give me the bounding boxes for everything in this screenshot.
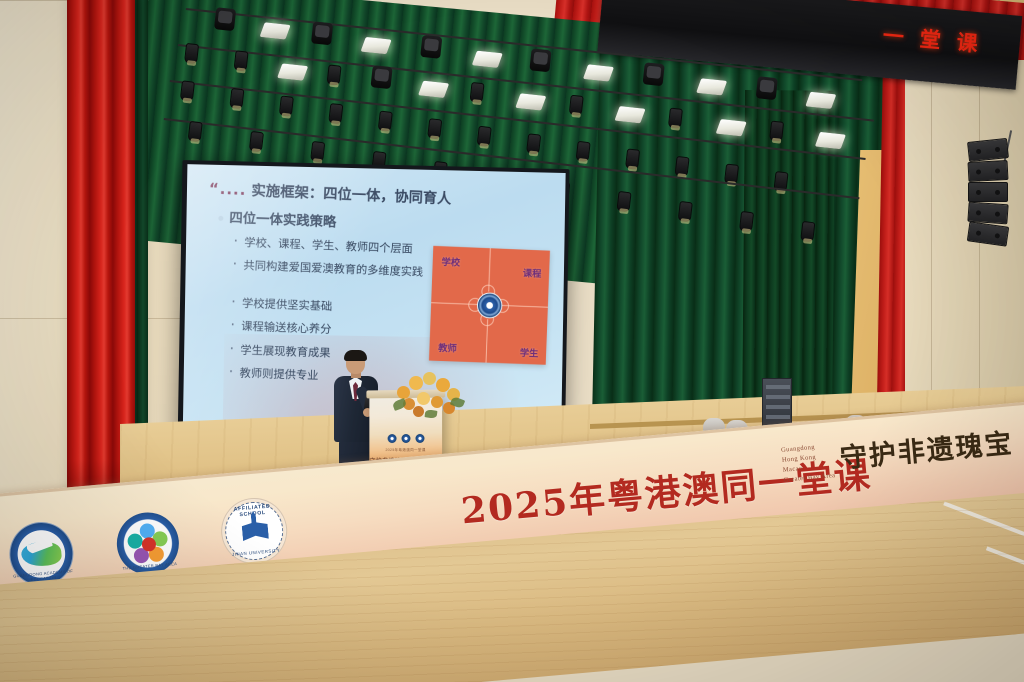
puzzle-label-curriculum: 课程: [523, 265, 542, 280]
puzzle-label-school: 学校: [441, 254, 460, 269]
podium-logo-icon: [401, 434, 410, 443]
podium-text-small: 2025年粤港澳同一堂课: [369, 448, 442, 453]
banner-slogan: 守护非遗瑰宝 推动文化传承: [838, 405, 1024, 476]
logo-greater-bay-area: THE GREATER BAY AREA: [114, 510, 181, 577]
slide-subtitle: 四位一体实践策略: [218, 206, 533, 239]
podium-logo-icon: [415, 434, 424, 443]
petal-ring-icon: [126, 522, 169, 565]
led-marquee-text: 一堂课: [882, 20, 995, 60]
four-piece-puzzle-diagram: 学校 课程 教师 学生: [429, 246, 550, 365]
school-emblem-icon: [477, 292, 503, 319]
quote-mark-icon: “....: [209, 179, 247, 199]
flower-arrangement: [393, 372, 465, 420]
puzzle-label-student: 学生: [520, 345, 539, 359]
puzzle-label-teacher: 教师: [438, 340, 457, 355]
slide-title-text: 实施框架：四位一体，协同育人: [251, 183, 451, 207]
line-array-speaker: [962, 140, 1016, 260]
banner-english-subtitle: Guangdong Hong Kong Macao Greater Bay Ar…: [781, 441, 836, 486]
podium-logo-icon: [387, 434, 396, 443]
auditorium-photo: 一堂课: [0, 0, 1024, 682]
bullet-dot-icon: [218, 215, 223, 220]
logo-affiliated-school-jinan-university: AFFILIATED SCHOOL JINAN UNIVERSITY: [218, 495, 290, 567]
slide-subtitle-text: 四位一体实践策略: [229, 210, 336, 230]
podium-logos: [387, 434, 424, 443]
